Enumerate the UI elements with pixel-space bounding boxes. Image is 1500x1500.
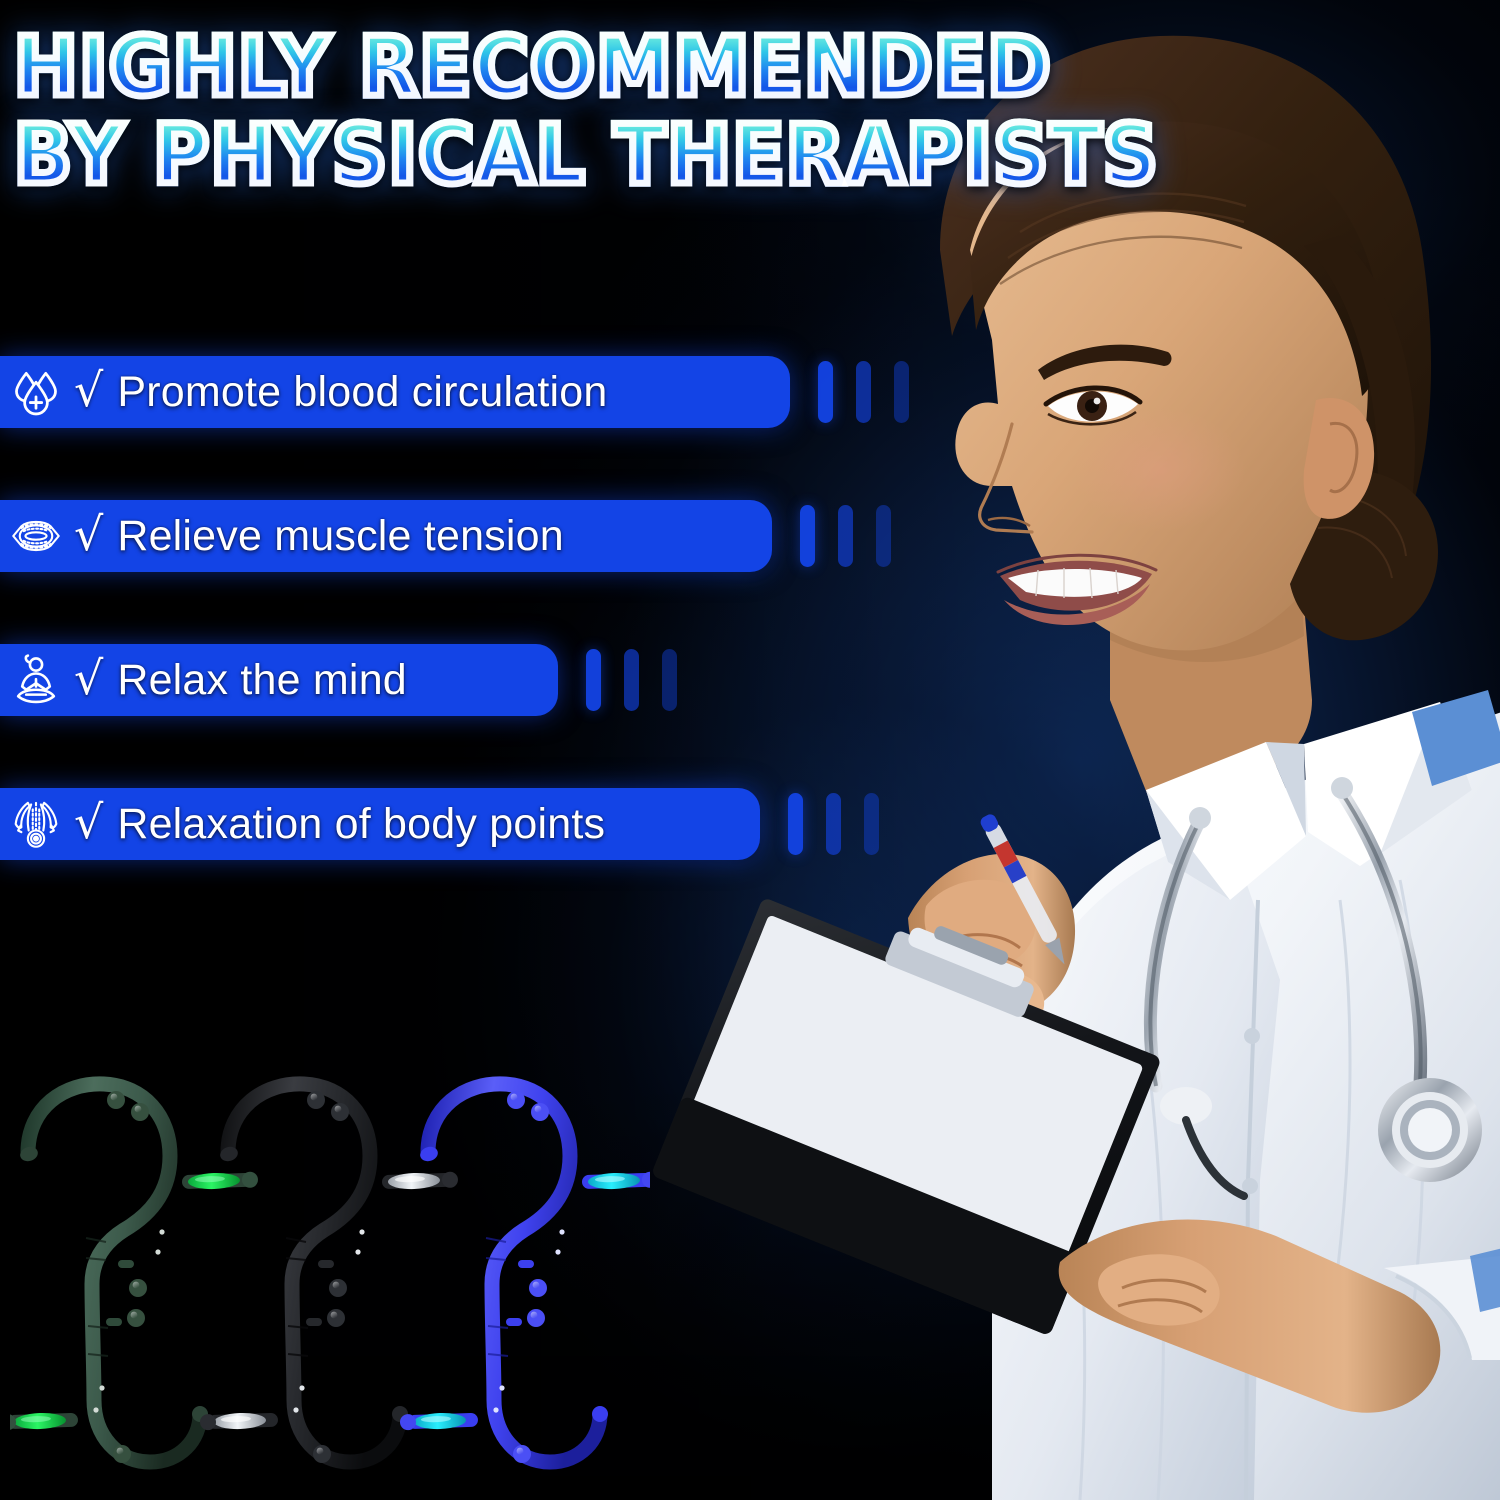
feature-pill-promote-blood-circulation[interactable]: √ Promote blood circulation bbox=[0, 356, 790, 428]
accent-bar bbox=[876, 505, 891, 567]
feature-row: √ Relax the mind bbox=[0, 644, 1020, 716]
accent-bar bbox=[864, 793, 879, 855]
feature-row: √ Relaxation of body points bbox=[0, 788, 1020, 860]
feature-pill-relieve-muscle-tension[interactable]: √ Relieve muscle tension bbox=[0, 500, 772, 572]
muscle-fiber-icon bbox=[10, 510, 62, 562]
accent-bar bbox=[894, 361, 909, 423]
accent-bars bbox=[586, 649, 677, 711]
feature-label: Relieve muscle tension bbox=[117, 512, 564, 561]
accent-bar bbox=[800, 505, 815, 567]
massage-cane-green bbox=[10, 1084, 258, 1463]
accent-bar bbox=[586, 649, 601, 711]
feature-row: √ Promote blood circulation bbox=[0, 356, 1020, 428]
accent-bar bbox=[838, 505, 853, 567]
accent-bar bbox=[856, 361, 871, 423]
accent-bar bbox=[662, 649, 677, 711]
accent-bars bbox=[788, 793, 879, 855]
check-icon: √ bbox=[74, 799, 103, 845]
check-icon: √ bbox=[74, 367, 103, 413]
feature-label: Promote blood circulation bbox=[117, 368, 607, 417]
accent-bars bbox=[800, 505, 891, 567]
massage-cane-black bbox=[200, 1084, 459, 1463]
accent-bar bbox=[826, 793, 841, 855]
accent-bars bbox=[818, 361, 909, 423]
accent-bar bbox=[818, 361, 833, 423]
product-marketing-image: HIGHLY RECOMMENDED BY PHYSICAL THERAPIST… bbox=[0, 0, 1500, 1500]
massage-cane-blue bbox=[400, 1084, 650, 1463]
feature-pill-relax-the-mind[interactable]: √ Relax the mind bbox=[0, 644, 558, 716]
feature-row: √ Relieve muscle tension bbox=[0, 500, 1020, 572]
meditation-icon bbox=[10, 654, 62, 706]
check-icon: √ bbox=[74, 511, 103, 557]
feature-list: √ Promote blood circulation bbox=[0, 356, 1020, 860]
blood-drops-icon bbox=[10, 366, 62, 418]
acupressure-points-icon bbox=[10, 798, 62, 850]
accent-bar bbox=[624, 649, 639, 711]
feature-pill-relaxation-of-body-points[interactable]: √ Relaxation of body points bbox=[0, 788, 760, 860]
product-group-massage-canes bbox=[10, 1070, 650, 1490]
check-icon: √ bbox=[74, 655, 103, 701]
feature-label: Relaxation of body points bbox=[117, 800, 605, 849]
feature-label: Relax the mind bbox=[117, 656, 407, 705]
accent-bar bbox=[788, 793, 803, 855]
